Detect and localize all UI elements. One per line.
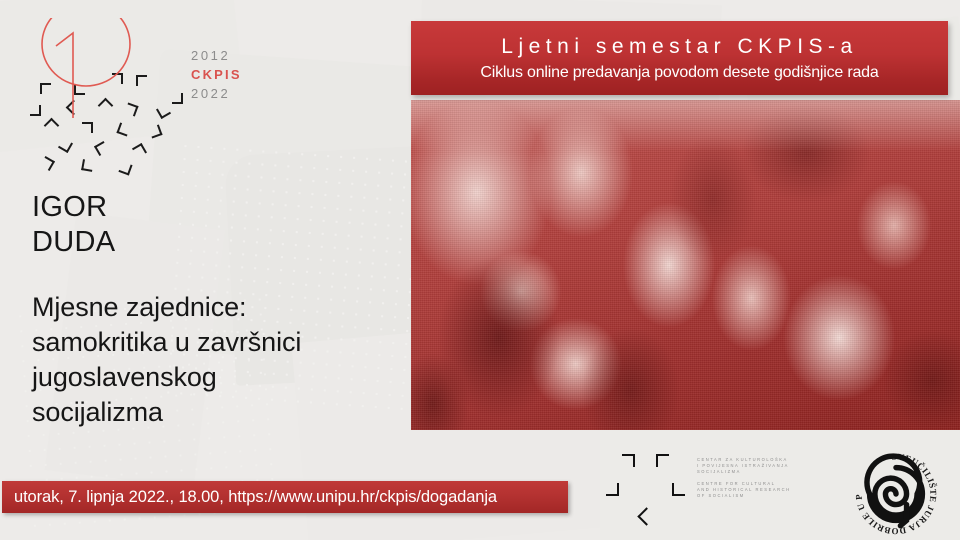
bracket-mark-icon (637, 507, 655, 525)
event-photograph (411, 100, 960, 430)
university-spiral-icon: SVEUČILIŠTE JURJA DOBRILE U PULI (852, 450, 940, 538)
lecture-title-line: Mjesne zajednice: (32, 290, 402, 325)
speaker-first-name: IGOR (32, 190, 115, 225)
ckpis-name-line: SOCIJALIZMA (697, 469, 847, 475)
speaker-name: IGOR DUDA (32, 190, 115, 260)
anniversary-year-end: 2022 (191, 84, 242, 103)
banner-subtitle: Ciklus online predavanja povodom desete … (480, 62, 878, 84)
photo-grain-texture (411, 100, 960, 430)
bracket-mark-icon (656, 454, 669, 467)
bracket-mark-icon (606, 483, 619, 496)
bracket-mark-icon (622, 454, 635, 467)
ckpis-name-text: CENTAR ZA KULTUROLOŠKA I POVIJESNA ISTRA… (697, 457, 847, 504)
lecture-title-line: samokritika u završnici (32, 325, 402, 360)
banner-title: Ljetni semestar CKPIS-a (501, 32, 857, 62)
bracket-mark-icon (672, 483, 685, 496)
ckpis-logo-mark (604, 450, 690, 526)
lecture-title: Mjesne zajednice: samokritika u završnic… (32, 290, 402, 430)
speaker-last-name: DUDA (32, 225, 115, 260)
bracket-mark-icon (81, 159, 94, 172)
ckpis-name-line: OF SOCIALISM (697, 493, 847, 499)
anniversary-org-name: CKPIS (191, 65, 242, 84)
anniversary-years: 2012 CKPIS 2022 (191, 46, 242, 103)
anniversary-year-start: 2012 (191, 46, 242, 65)
university-logo: SVEUČILIŠTE JURJA DOBRILE U PULI (852, 450, 940, 538)
lecture-title-line: jugoslavenskog (32, 360, 402, 395)
header-banner: Ljetni semestar CKPIS-a Ciklus online pr… (411, 21, 948, 95)
lecture-title-line: socijalizma (32, 395, 402, 430)
ckpis-name-croatian: CENTAR ZA KULTUROLOŠKA I POVIJESNA ISTRA… (697, 457, 847, 476)
event-details-text: utorak, 7. lipnja 2022., 18.00, https://… (14, 488, 497, 507)
ckpis-name-english: CENTRE FOR CULTURAL AND HISTORICAL RESEA… (697, 481, 847, 500)
anniversary-numeral-icon (28, 18, 208, 138)
event-details-banner[interactable]: utorak, 7. lipnja 2022., 18.00, https://… (2, 481, 568, 513)
anniversary-logo: 2012 CKPIS 2022 (28, 18, 238, 138)
